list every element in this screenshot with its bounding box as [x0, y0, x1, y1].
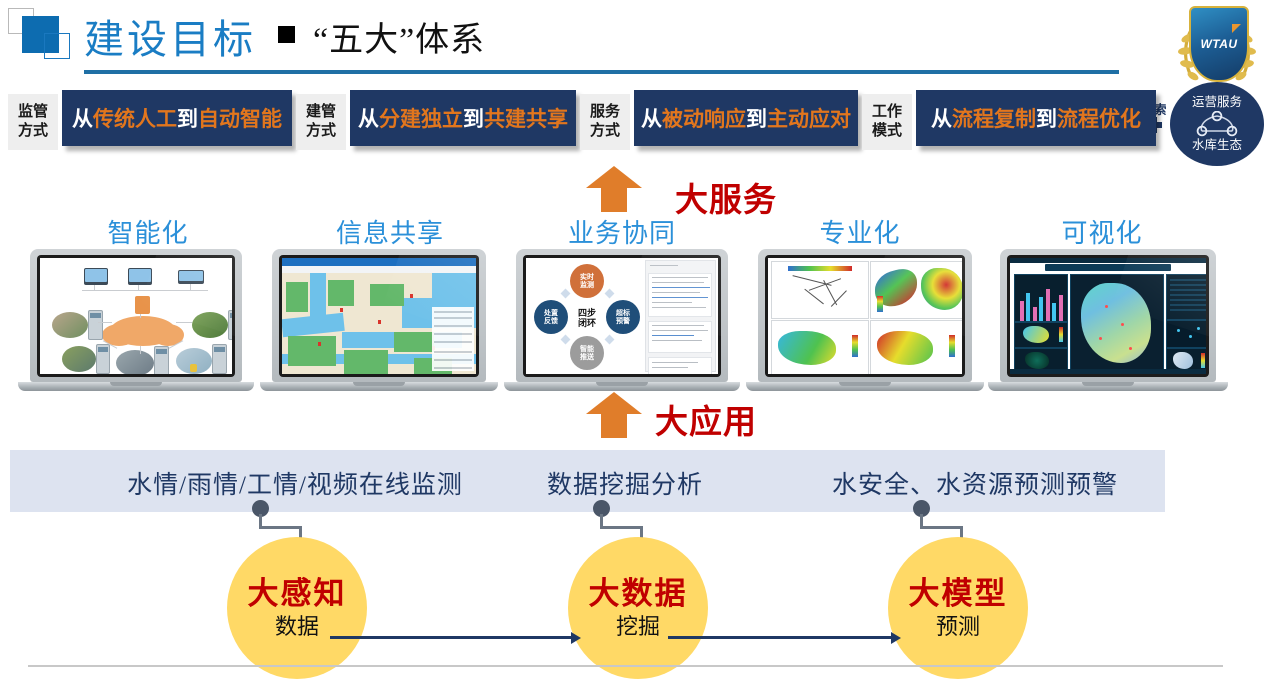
capability-title-3: 专业化: [770, 213, 950, 250]
capability-title-2: 业务协同: [522, 213, 722, 250]
capability-title-4: 可视化: [1012, 213, 1192, 250]
loop-node-1: 超标 预警: [606, 300, 640, 334]
laptop-base: [504, 382, 740, 391]
laptop-bezel: 实时 监测 超标 预警 智能 推送 处置 反馈: [523, 255, 721, 377]
laptop-lid: [30, 249, 242, 382]
pillar-title-0: 大感知: [248, 576, 347, 612]
laptop-lid: [1000, 249, 1216, 382]
screen-hydrological-model-maps: [768, 258, 962, 374]
transition-tag-1: 建管 方式: [296, 94, 346, 150]
laptop-base: [260, 382, 498, 391]
shield-wordmark: WTAU: [1200, 37, 1237, 51]
network-nodes-icon: [1195, 111, 1239, 137]
screen-gis-map-platform: [282, 258, 476, 374]
laptop-bezel: [1007, 255, 1209, 377]
pillar-subtitle-2: 预测: [936, 614, 980, 640]
flow-arrow-1: [668, 636, 892, 639]
transition-bar: 监管 方式 从 传统人工 到 自动智能 建管 方式 从 分建独立 到 共建共享 …: [0, 94, 1190, 150]
laptop-lid: [272, 249, 486, 382]
chat-panel: [645, 260, 716, 372]
transition-tag-3: 工作 模式: [862, 94, 912, 150]
brand-logo-mark: [8, 8, 78, 64]
loop-node-2: 智能 推送: [570, 336, 604, 370]
laptop-lid: 实时 监测 超标 预警 智能 推送 处置 反馈: [516, 249, 728, 382]
laptop-mockup-0: [30, 249, 242, 391]
logo-square-outline-blue: [44, 33, 70, 59]
screen-four-step-closed-loop: 实时 监测 超标 预警 智能 推送 处置 反馈: [526, 258, 718, 374]
footer-rule: [28, 665, 1223, 667]
service-up-arrow-icon: [586, 166, 642, 210]
transition-statement-1: 从 分建独立 到 共建共享: [350, 90, 576, 146]
transition-statement-0: 从 传统人工 到 自动智能: [62, 90, 292, 146]
transition-statement-2: 从 被动响应 到 主动应对: [634, 90, 858, 146]
laptop-bezel: [765, 255, 965, 377]
screen-dark-data-dashboard: [1010, 258, 1206, 374]
pillar-subtitle-0: 数据: [275, 614, 319, 640]
outcome-item-2: 水安全、水资源预测预警: [790, 465, 1160, 501]
eco-bottom-label: 水库生态: [1192, 138, 1242, 153]
title-underline: [84, 70, 1119, 74]
laptop-base: [18, 382, 254, 391]
bullet-square-icon: [278, 26, 295, 43]
pillar-2: 大模型 预测: [888, 537, 1028, 679]
transition-statement-3: 从 流程复制 到 流程优化: [916, 90, 1156, 146]
laptop-mockup-4: [1000, 249, 1216, 391]
transition-tag-2: 服务 方式: [580, 94, 630, 150]
pillar-0: 大感知 数据: [227, 537, 367, 679]
page-title-sub: “五大”体系: [313, 12, 485, 61]
shield-corner-accent: [1232, 24, 1241, 33]
eco-top-label: 运营服务: [1192, 95, 1242, 110]
laptop-mockup-2: 实时 监测 超标 预警 智能 推送 处置 反馈: [516, 249, 728, 391]
shield-icon: WTAU: [1189, 6, 1249, 82]
page-title: 建设目标 “五大”体系: [84, 6, 485, 66]
pillar-subtitle-1: 挖掘: [616, 614, 660, 640]
capability-title-1: 信息共享: [290, 213, 490, 250]
pillar-1: 大数据 挖掘: [568, 537, 708, 679]
laptop-mockup-1: [272, 249, 486, 391]
loop-node-0: 实时 监测: [570, 264, 604, 298]
laptop-base: [746, 382, 984, 391]
pillar-title-2: 大模型: [909, 576, 1008, 612]
capability-title-0: 智能化: [58, 213, 238, 250]
page-title-main: 建设目标: [84, 7, 256, 65]
laptop-mockup-3: [758, 249, 972, 391]
application-up-arrow-icon: [586, 392, 642, 436]
laptop-bezel: [279, 255, 479, 377]
application-callout-label: 大应用: [655, 395, 757, 443]
outcome-item-0: 水情/雨情/工情/视频在线监测: [85, 465, 505, 501]
pillar-title-1: 大数据: [589, 576, 688, 612]
laptop-base: [988, 382, 1228, 391]
transition-tag-0: 监管 方式: [8, 94, 58, 150]
laptop-bezel: [37, 255, 235, 377]
flow-arrow-0: [330, 636, 572, 639]
loop-node-3: 处置 反馈: [534, 300, 568, 334]
outcome-item-1: 数据挖掘分析: [510, 465, 740, 501]
screen-network-topology-diagram: [40, 258, 232, 374]
laptop-lid: [758, 249, 972, 382]
loop-center-label: 四步 闭环: [570, 308, 604, 328]
